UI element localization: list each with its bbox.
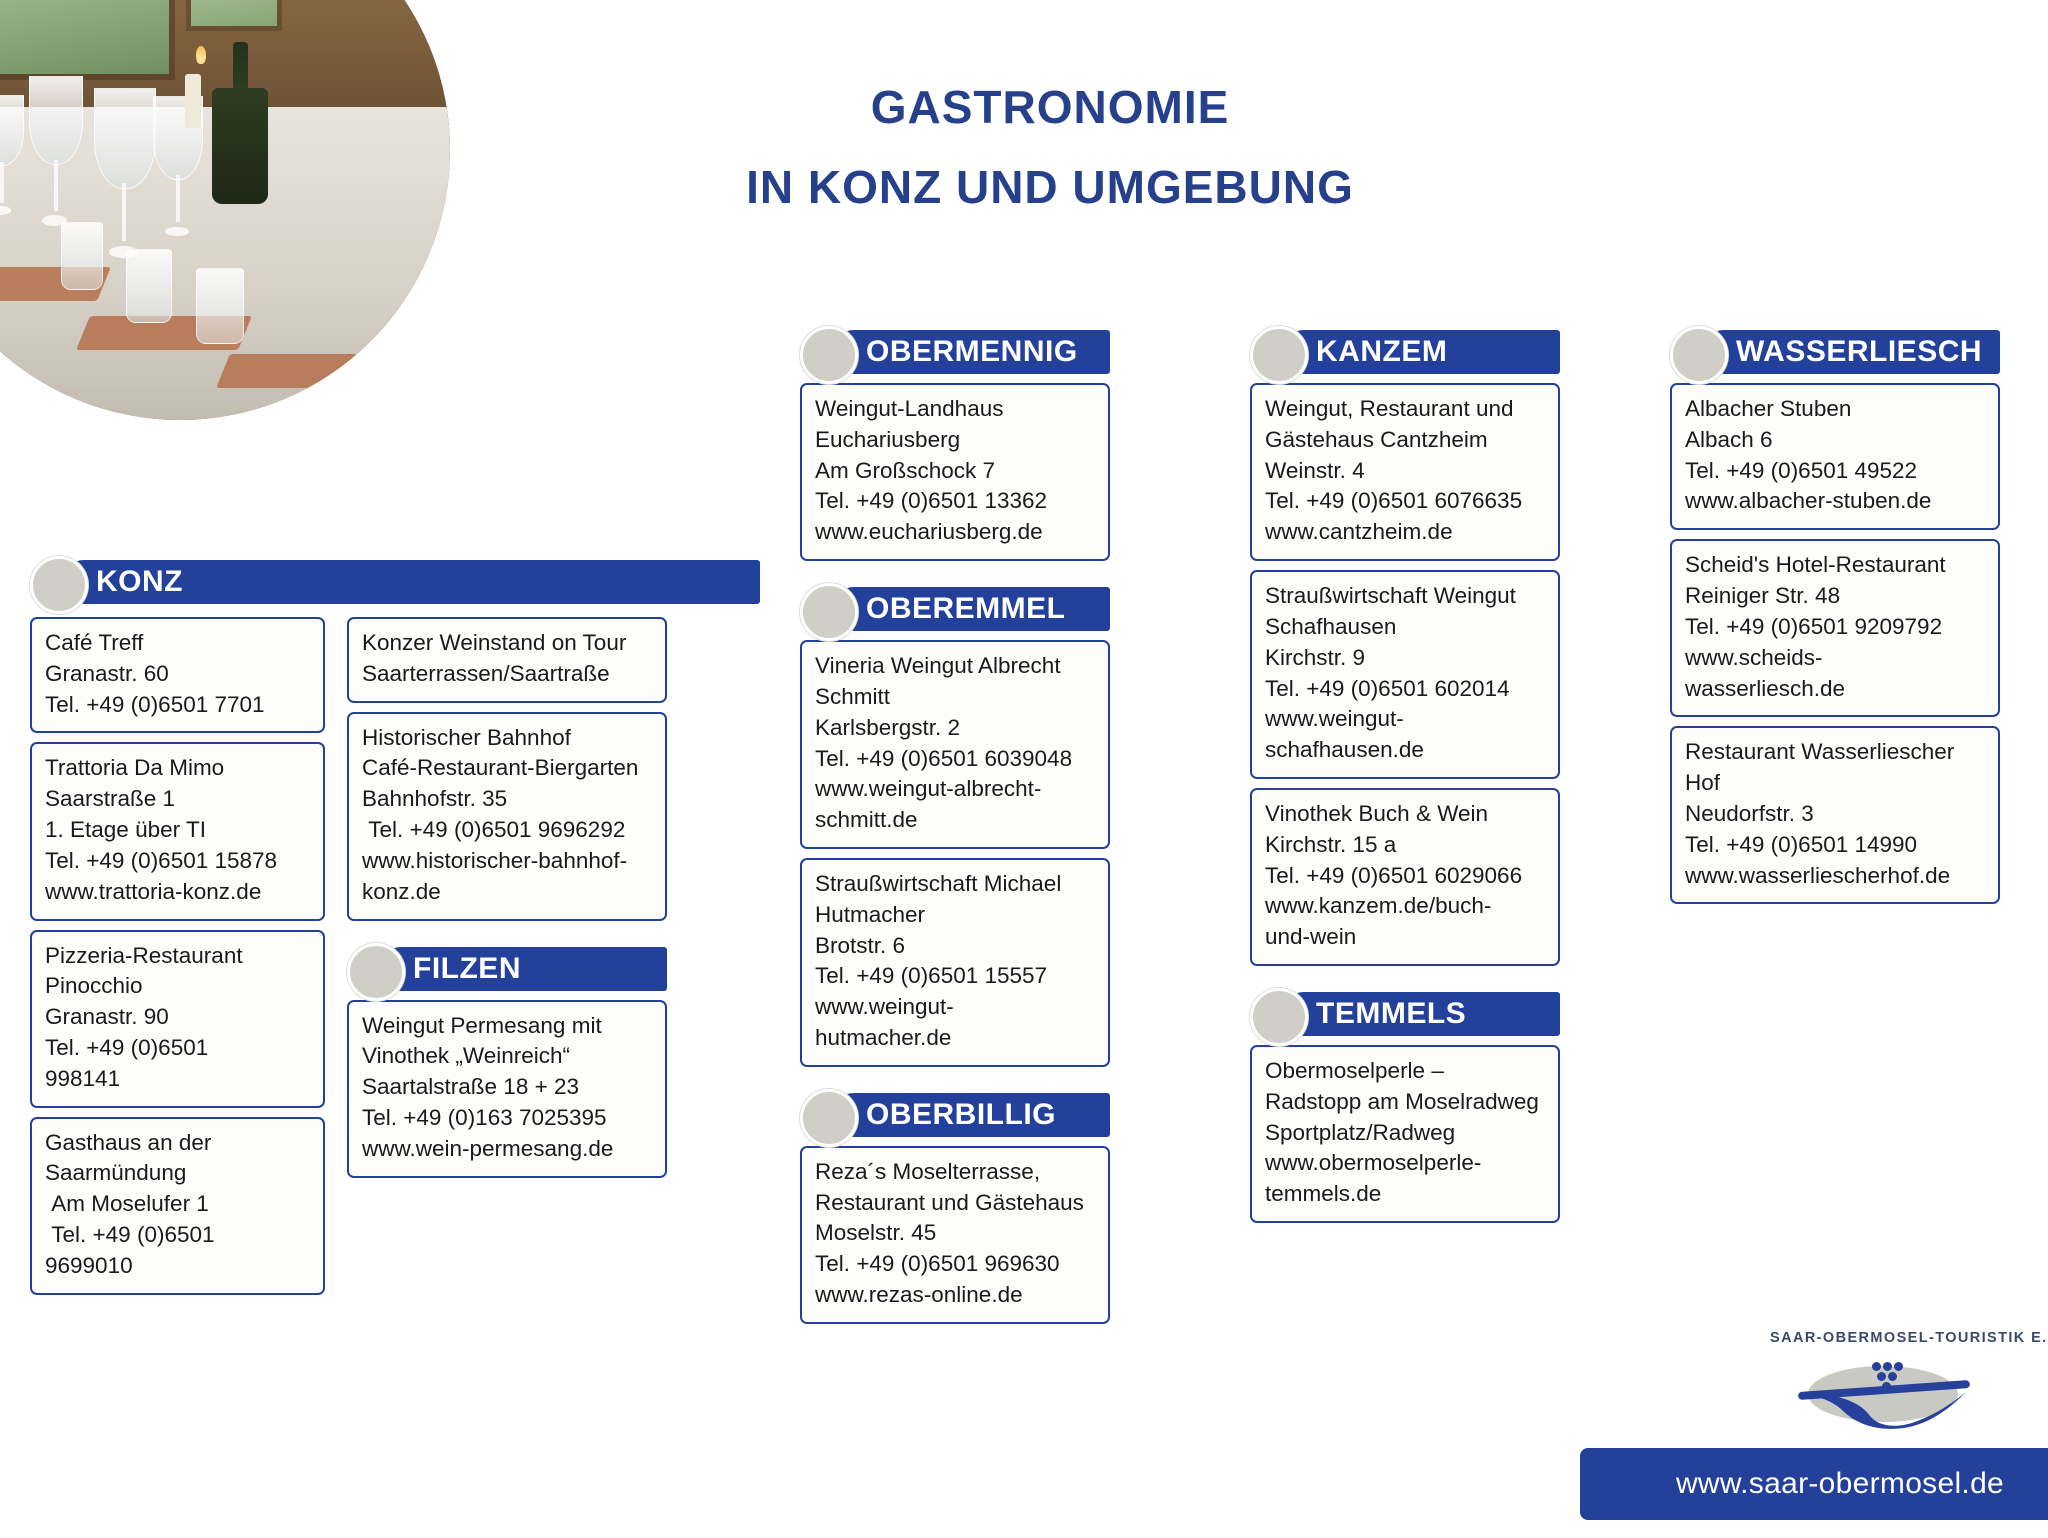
section-title-wasserliesch: WASSERLIESCH <box>1736 330 1982 374</box>
entry-card[interactable]: Weingut, Restaurant und Gästehaus Cantzh… <box>1250 383 1560 561</box>
entry-text: Albacher Stuben Albach 6 Tel. +49 (0)650… <box>1685 394 1985 517</box>
column-wasserliesch: WASSERLIESCH Albacher Stuben Albach 6 Te… <box>1670 330 2000 904</box>
entry-text: Reza´s Moselterrasse, Restaurant und Gäs… <box>815 1157 1095 1311</box>
konz-left-entries: Café Treff Granastr. 60 Tel. +49 (0)6501… <box>30 608 325 1295</box>
logo-mark-icon <box>1770 1352 2000 1430</box>
page-subtitle: IN KONZ UND UMGEBUNG <box>640 158 1460 218</box>
entry-card[interactable]: Café Treff Granastr. 60 Tel. +49 (0)6501… <box>30 617 325 733</box>
section-header-konz: KONZ <box>30 560 760 604</box>
column-middle: OBERMENNIG Weingut-Landhaus Euchariusber… <box>800 330 1110 1324</box>
bullet-circle-icon <box>1250 988 1308 1046</box>
entry-card[interactable]: Restaurant Wasserliescher Hof Neudorfstr… <box>1670 726 2000 904</box>
entry-card[interactable]: Pizzeria-Restaurant Pinocchio Granastr. … <box>30 930 325 1108</box>
entry-text: Weingut, Restaurant und Gästehaus Cantzh… <box>1265 394 1545 548</box>
section-header-wasserliesch: WASSERLIESCH <box>1670 330 2000 374</box>
bullet-circle-icon <box>1250 326 1308 384</box>
section-header-temmels: TEMMELS <box>1250 992 1560 1036</box>
section-header-kanzem: KANZEM <box>1250 330 1560 374</box>
section-header-filzen: FILZEN <box>347 947 667 991</box>
entry-card[interactable]: Reza´s Moselterrasse, Restaurant und Gäs… <box>800 1146 1110 1324</box>
entry-card[interactable]: Albacher Stuben Albach 6 Tel. +49 (0)650… <box>1670 383 2000 530</box>
column-konz: KONZ Café Treff Granastr. 60 Tel. +49 (0… <box>30 560 760 1295</box>
bullet-circle-icon <box>800 583 858 641</box>
entry-text: Vineria Weingut Albrecht Schmitt Karlsbe… <box>815 651 1095 836</box>
section-title-obermennig: OBERMENNIG <box>866 330 1078 374</box>
section-header-oberemmel: OBEREMMEL <box>800 587 1110 631</box>
section-title-konz: KONZ <box>96 560 183 604</box>
entry-text: Weingut-Landhaus Euchariusberg Am Großsc… <box>815 394 1095 548</box>
entry-card[interactable]: Weingut Permesang mit Vinothek „Weinreic… <box>347 1000 667 1178</box>
website-banner[interactable]: www.saar-obermosel.de <box>1580 1448 2048 1520</box>
entry-text: Pizzeria-Restaurant Pinocchio Granastr. … <box>45 941 310 1095</box>
entry-text: Vinothek Buch & Wein Kirchstr. 15 a Tel.… <box>1265 799 1545 953</box>
entry-text: Obermoselperle – Radstopp am Moselradweg… <box>1265 1056 1545 1210</box>
entry-text: Restaurant Wasserliescher Hof Neudorfstr… <box>1685 737 1985 891</box>
entry-card[interactable]: Straußwirtschaft Weingut Schafhausen Kir… <box>1250 570 1560 779</box>
entry-text: Gasthaus an der Saarmündung Am Moselufer… <box>45 1128 310 1282</box>
logo-text: SAAR-OBERMOSEL-TOURISTIK E.V. <box>1770 1330 2000 1346</box>
entry-text: Scheid's Hotel-Restaurant Reiniger Str. … <box>1685 550 1985 704</box>
section-title-temmels: TEMMELS <box>1316 992 1466 1036</box>
section-header-oberbillig: OBERBILLIG <box>800 1093 1110 1137</box>
entry-card[interactable]: Vinothek Buch & Wein Kirchstr. 15 a Tel.… <box>1250 788 1560 966</box>
entry-text: Konzer Weinstand on Tour Saarterrassen/S… <box>362 628 652 690</box>
entry-card[interactable]: Scheid's Hotel-Restaurant Reiniger Str. … <box>1670 539 2000 717</box>
section-header-obermennig: OBERMENNIG <box>800 330 1110 374</box>
entry-card[interactable]: Gasthaus an der Saarmündung Am Moselufer… <box>30 1117 325 1295</box>
entry-card[interactable]: Konzer Weinstand on Tour Saarterrassen/S… <box>347 617 667 703</box>
entry-card[interactable]: Trattoria Da Mimo Saarstraße 1 1. Etage … <box>30 742 325 920</box>
entry-text: Café Treff Granastr. 60 Tel. +49 (0)6501… <box>45 628 310 720</box>
brochure-page: GASTRONOMIE IN KONZ UND UMGEBUNG KONZ Ca… <box>0 0 2048 1538</box>
page-title: GASTRONOMIE <box>640 78 1460 138</box>
entry-card[interactable]: Straußwirtschaft Michael Hutmacher Brots… <box>800 858 1110 1067</box>
entry-card[interactable]: Historischer Bahnhof Café-Restaurant-Bie… <box>347 712 667 921</box>
entry-text: Weingut Permesang mit Vinothek „Weinreic… <box>362 1011 652 1165</box>
column-kanzem: KANZEM Weingut, Restaurant und Gästehaus… <box>1250 330 1560 1223</box>
bullet-circle-icon <box>30 556 88 614</box>
entry-card[interactable]: Obermoselperle – Radstopp am Moselradweg… <box>1250 1045 1560 1223</box>
bullet-circle-icon <box>800 1089 858 1147</box>
entry-text: Trattoria Da Mimo Saarstraße 1 1. Etage … <box>45 753 310 907</box>
entry-text: Straußwirtschaft Weingut Schafhausen Kir… <box>1265 581 1545 766</box>
entry-card[interactable]: Weingut-Landhaus Euchariusberg Am Großsc… <box>800 383 1110 561</box>
entry-text: Historischer Bahnhof Café-Restaurant-Bie… <box>362 723 652 908</box>
bullet-circle-icon <box>800 326 858 384</box>
konz-right-entries: Konzer Weinstand on Tour Saarterrassen/S… <box>347 608 667 1295</box>
page-title-block: GASTRONOMIE IN KONZ UND UMGEBUNG <box>640 78 1460 218</box>
bullet-circle-icon <box>1670 326 1728 384</box>
bullet-circle-icon <box>347 943 405 1001</box>
entry-text: Straußwirtschaft Michael Hutmacher Brots… <box>815 869 1095 1054</box>
entry-card[interactable]: Vineria Weingut Albrecht Schmitt Karlsbe… <box>800 640 1110 849</box>
section-title-oberbillig: OBERBILLIG <box>866 1093 1056 1137</box>
hero-photo <box>0 0 450 420</box>
section-title-oberemmel: OBEREMMEL <box>866 587 1066 631</box>
section-title-filzen: FILZEN <box>413 947 521 991</box>
river-swoosh-icon <box>1770 1352 2000 1430</box>
section-title-kanzem: KANZEM <box>1316 330 1447 374</box>
organization-logo: SAAR-OBERMOSEL-TOURISTIK E.V. <box>1770 1330 2000 1430</box>
